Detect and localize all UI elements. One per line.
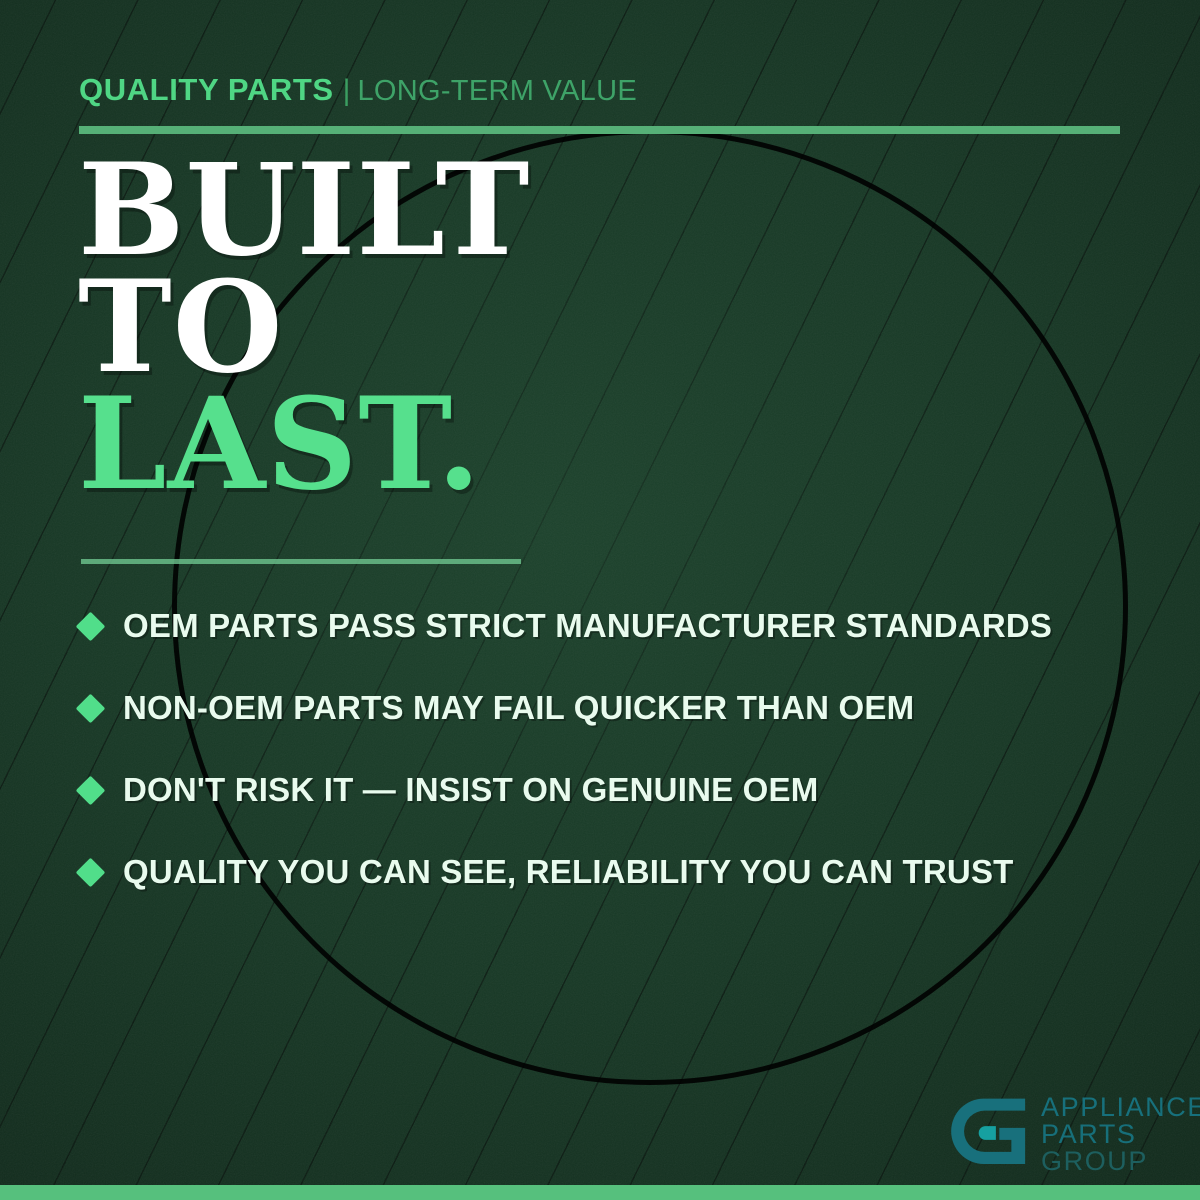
list-item: QUALITY YOU CAN SEE, RELIABILITY YOU CAN…: [80, 831, 1150, 913]
eyebrow-kicker: QUALITY PARTS: [79, 72, 334, 107]
brand-logo: APPLIANCE PARTS GROUP: [946, 1090, 1200, 1176]
headline-line-1: BUILT: [78, 152, 530, 269]
eyebrow-separator: |: [343, 74, 351, 107]
headline-divider-rule: [81, 559, 521, 564]
eyebrow: QUALITY PARTS|LONG-TERM VALUE: [79, 74, 637, 106]
diamond-bullet-icon: [76, 857, 106, 887]
diamond-bullet-icon: [76, 775, 106, 805]
list-item-label: QUALITY YOU CAN SEE, RELIABILITY YOU CAN…: [123, 853, 1014, 891]
list-item: NON-OEM PARTS MAY FAIL QUICKER THAN OEM: [80, 667, 1150, 749]
headline-line-2: TO: [78, 269, 530, 386]
brand-logo-wordmark: APPLIANCE PARTS GROUP: [1041, 1090, 1200, 1175]
diamond-bullet-icon: [76, 611, 106, 641]
poster-content: QUALITY PARTS|LONG-TERM VALUE BUILT TO L…: [0, 0, 1200, 1200]
bottom-accent-bar: [0, 1185, 1200, 1200]
list-item-label: DON'T RISK IT — INSIST ON GENUINE OEM: [123, 771, 818, 809]
headline-line-3: LAST.: [78, 386, 530, 503]
list-item: OEM PARTS PASS STRICT MANUFACTURER STAND…: [80, 585, 1150, 667]
logo-line-2: PARTS: [1041, 1121, 1200, 1148]
list-item-label: OEM PARTS PASS STRICT MANUFACTURER STAND…: [123, 607, 1052, 645]
logo-line-3: GROUP: [1041, 1148, 1200, 1175]
header-divider-rule: [79, 126, 1120, 134]
eyebrow-subtitle: LONG-TERM VALUE: [357, 75, 637, 107]
appliance-parts-group-g-icon: [946, 1090, 1032, 1176]
logo-line-1: APPLIANCE: [1041, 1094, 1200, 1121]
list-item: DON'T RISK IT — INSIST ON GENUINE OEM: [80, 749, 1150, 831]
headline: BUILT TO LAST.: [78, 152, 530, 504]
list-item-label: NON-OEM PARTS MAY FAIL QUICKER THAN OEM: [123, 689, 914, 727]
benefit-list: OEM PARTS PASS STRICT MANUFACTURER STAND…: [80, 585, 1150, 913]
diamond-bullet-icon: [76, 693, 106, 723]
promo-poster: QUALITY PARTS|LONG-TERM VALUE BUILT TO L…: [0, 0, 1200, 1200]
